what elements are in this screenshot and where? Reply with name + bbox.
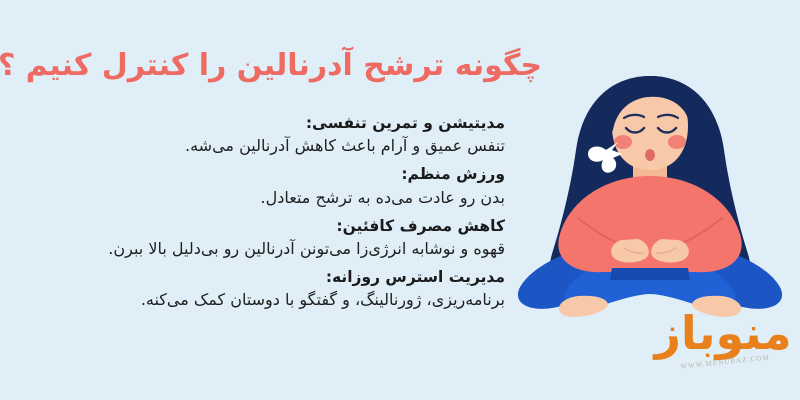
list-item: ورزش منظم: بدن رو عادت می‌ده به ترشح متع… bbox=[95, 163, 505, 210]
tip-body: برنامه‌ریزی، ژورنالینگ، و گفتگو با دوستا… bbox=[95, 288, 505, 313]
list-item: کاهش مصرف کافئین: قهوه و نوشابه انرژی‌زا… bbox=[95, 215, 505, 262]
page-title: چگونه ترشح آدرنالین را کنترل کنیم ؟ bbox=[40, 44, 500, 88]
mouth-shape bbox=[645, 149, 655, 161]
tip-body: بدن رو عادت می‌ده به ترشح متعادل. bbox=[95, 186, 505, 211]
tip-heading: کاهش مصرف کافئین: bbox=[95, 215, 505, 237]
tip-body: تنفس عمیق و آرام باعث کاهش آدرنالین می‌ش… bbox=[95, 134, 505, 159]
watermark-logo[interactable]: منوباز WWW.MENUBAZ.COM bbox=[648, 300, 798, 386]
tip-heading: ورزش منظم: bbox=[95, 163, 505, 185]
infographic-poster: چگونه ترشح آدرنالین را کنترل کنیم ؟ مدیت… bbox=[0, 0, 800, 400]
waistband-shape bbox=[610, 268, 690, 280]
tip-heading: مدیتیشن و تمرین تنفسی: bbox=[95, 112, 505, 134]
tip-body: قهوه و نوشابه انرژی‌زا می‌تونن آدرنالین … bbox=[95, 237, 505, 262]
list-item: مدیتیشن و تمرین تنفسی: تنفس عمیق و آرام … bbox=[95, 112, 505, 159]
tips-list: مدیتیشن و تمرین تنفسی: تنفس عمیق و آرام … bbox=[95, 112, 505, 317]
tip-heading: مدیریت استرس روزانه: bbox=[95, 266, 505, 288]
list-item: مدیریت استرس روزانه: برنامه‌ریزی، ژورنال… bbox=[95, 266, 505, 313]
